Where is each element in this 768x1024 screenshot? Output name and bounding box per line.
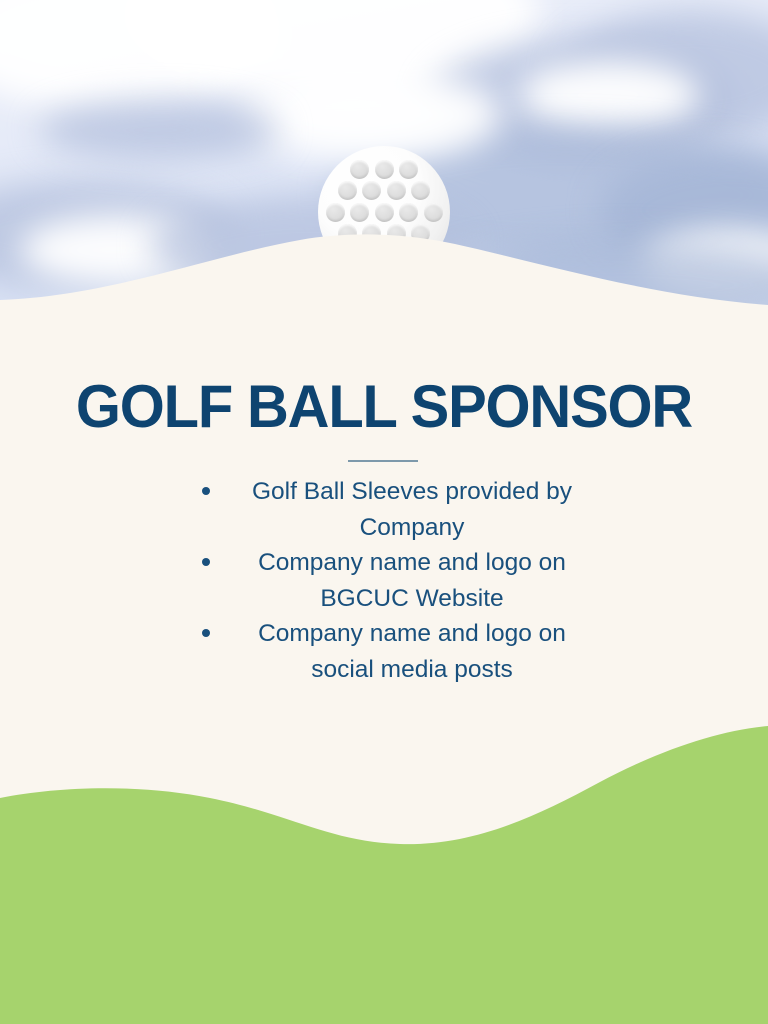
bullet-dot-icon	[202, 629, 210, 637]
divider-rule	[348, 460, 418, 462]
list-item: Company name and logo on social media po…	[150, 616, 618, 687]
benefit-text: Golf Ball Sleeves provided by Company	[150, 474, 618, 545]
bullet-dot-icon	[202, 487, 210, 495]
benefits-list: Golf Ball Sleeves provided by Company Co…	[150, 474, 618, 687]
benefit-text: Company name and logo on social media po…	[150, 616, 618, 687]
bullet-dot-icon	[202, 558, 210, 566]
list-item: Company name and logo on BGCUC Website	[150, 545, 618, 616]
list-item: Golf Ball Sleeves provided by Company	[150, 474, 618, 545]
golf-ball-sponsor-poster: GOLF BALL SPONSOR Golf Ball Sleeves prov…	[0, 0, 768, 1024]
benefit-text: Company name and logo on BGCUC Website	[150, 545, 618, 616]
poster-content: GOLF BALL SPONSOR Golf Ball Sleeves prov…	[0, 0, 768, 1024]
page-title: GOLF BALL SPONSOR	[13, 377, 754, 437]
